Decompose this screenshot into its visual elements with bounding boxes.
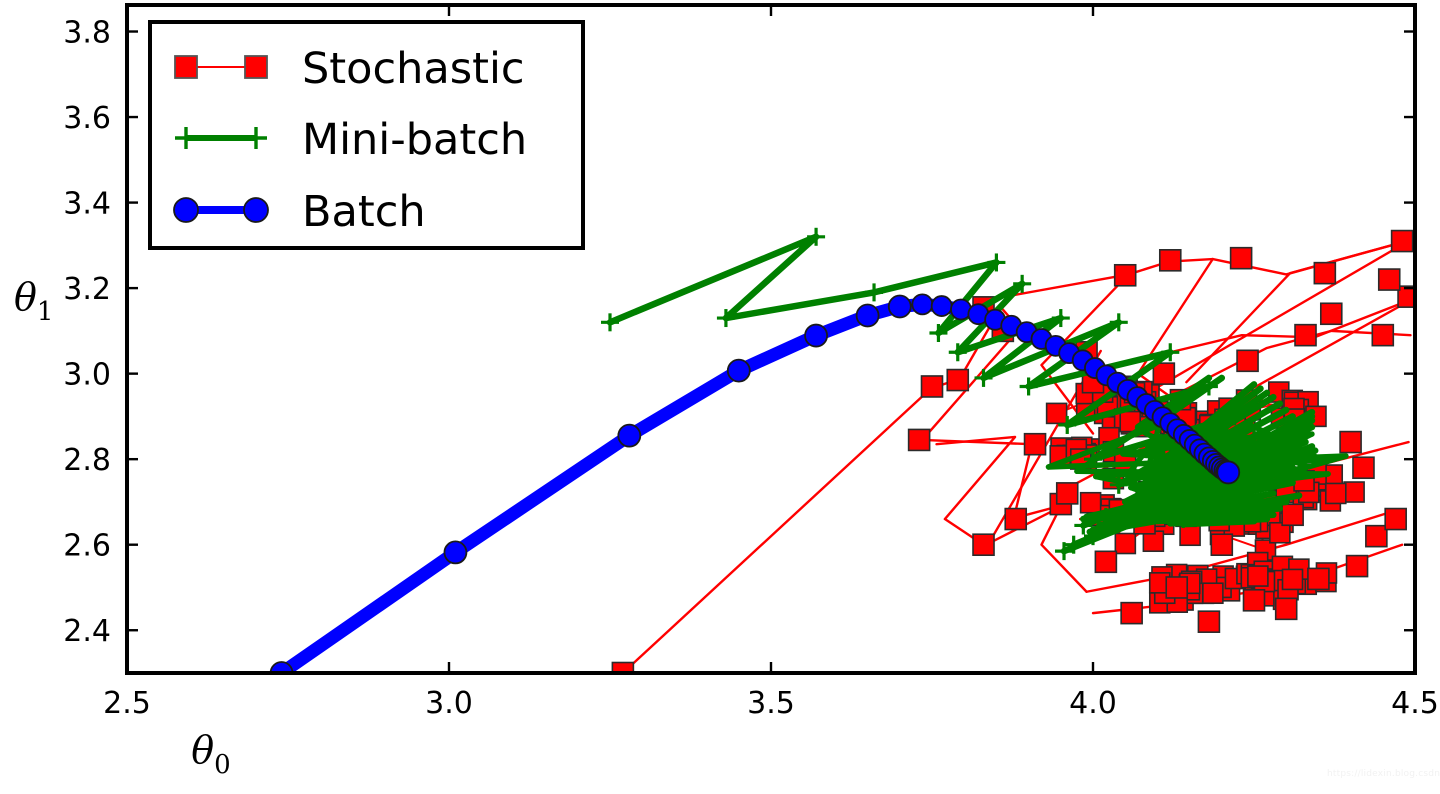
stochastic-marker-2	[947, 370, 968, 391]
batch-marker-2	[618, 425, 640, 447]
stochastic-marker-7	[1005, 509, 1026, 530]
y-tick-label-6: 3.6	[63, 101, 111, 136]
watermark: https://lidexin.blog.csdn.net	[1327, 769, 1440, 779]
minibatch-blade-25	[1183, 521, 1254, 524]
legend-box: StochasticMini-batchBatch	[150, 22, 583, 248]
stochastic-marker-31	[1198, 611, 1219, 632]
legend-label-0: Stochastic	[302, 44, 525, 94]
x-axis-label-subscript: 0	[214, 750, 231, 780]
x-tick-label-2: 3.5	[747, 686, 795, 721]
y-tick-label-0: 2.4	[63, 614, 111, 649]
stochastic-marker	[1326, 483, 1346, 503]
stochastic-marker	[1180, 525, 1200, 545]
x-tick-label-1: 3.0	[425, 686, 473, 721]
stochastic-marker-9	[973, 534, 994, 555]
legend-label-1: Mini-batch	[302, 115, 527, 165]
stochastic-marker-34	[1385, 509, 1406, 530]
stochastic-marker-25	[1095, 551, 1116, 572]
stochastic-marker	[1081, 493, 1101, 513]
stochastic-marker-39	[1353, 457, 1374, 478]
stochastic-marker	[1248, 566, 1268, 586]
y-tick-label-5: 3.4	[63, 187, 111, 222]
batch-marker-1	[444, 541, 466, 563]
stochastic-marker	[1115, 534, 1135, 554]
y-tick-label-7: 3.8	[63, 16, 111, 51]
legend-circle-marker-2-1	[244, 198, 268, 222]
stochastic-marker-32	[1276, 598, 1297, 619]
stochastic-marker-11	[1160, 250, 1181, 271]
stochastic-marker-38	[1282, 504, 1303, 525]
stochastic-marker-18	[1295, 325, 1316, 346]
stochastic-marker-6	[1025, 434, 1046, 455]
stochastic-marker-1	[922, 376, 943, 397]
stochastic-marker-19	[1372, 325, 1393, 346]
stochastic-marker	[1283, 569, 1303, 589]
y-tick-label-2: 2.8	[63, 443, 111, 478]
y-axis-label-subscript: 1	[37, 297, 54, 327]
stochastic-marker	[1203, 583, 1223, 603]
stochastic-marker-30	[1121, 603, 1142, 624]
figure-root: 2.53.03.54.04.52.42.62.83.03.23.43.63.8 …	[0, 0, 1440, 794]
y-axis-label-theta: θ	[14, 275, 37, 319]
batch-marker-6	[889, 295, 911, 317]
stochastic-marker-28	[1308, 568, 1329, 589]
stochastic-marker-23	[1340, 432, 1361, 453]
stochastic-marker-42	[1237, 350, 1258, 371]
stochastic-marker-33	[1347, 556, 1368, 577]
x-tick-label-0: 2.5	[103, 686, 151, 721]
stochastic-marker-14	[1392, 231, 1413, 252]
stochastic-marker-5	[909, 429, 930, 450]
legend-circle-marker-2-0	[174, 198, 198, 222]
x-tick-label-3: 4.0	[1069, 686, 1117, 721]
batch-marker-4	[805, 325, 827, 347]
stochastic-marker-35	[1057, 483, 1078, 504]
stochastic-marker	[1047, 403, 1067, 423]
legend-square-marker-0-1	[245, 56, 267, 78]
stochastic-marker-10	[1115, 265, 1136, 286]
x-axis-label-theta: θ	[191, 728, 214, 772]
batch-final-marker	[1217, 461, 1239, 483]
stochastic-marker-43	[1321, 303, 1342, 324]
stochastic-marker-12	[1231, 248, 1252, 269]
stochastic-marker-13	[1314, 263, 1335, 284]
stochastic-marker-37	[1211, 534, 1232, 555]
scatter-line-chart: 2.53.03.54.04.52.42.62.83.03.23.43.63.8 …	[0, 0, 1440, 794]
y-tick-label-1: 2.6	[63, 529, 111, 564]
y-tick-label-3: 3.0	[63, 358, 111, 393]
batch-marker-7	[912, 294, 932, 314]
stochastic-marker-29	[1366, 526, 1387, 547]
stochastic-marker-26	[1166, 577, 1187, 598]
batch-marker-5	[857, 304, 879, 326]
x-tick-label-4: 4.5	[1391, 686, 1439, 721]
legend-label-2: Batch	[302, 187, 426, 237]
stochastic-marker-27	[1244, 590, 1265, 611]
stochastic-marker	[1344, 482, 1364, 502]
stochastic-marker-44	[1379, 269, 1400, 290]
batch-marker-3	[728, 360, 750, 382]
y-tick-label-4: 3.2	[63, 272, 111, 307]
stochastic-marker-41	[1153, 363, 1174, 384]
batch-marker-8	[932, 296, 952, 316]
legend-square-marker-0-0	[175, 56, 197, 78]
